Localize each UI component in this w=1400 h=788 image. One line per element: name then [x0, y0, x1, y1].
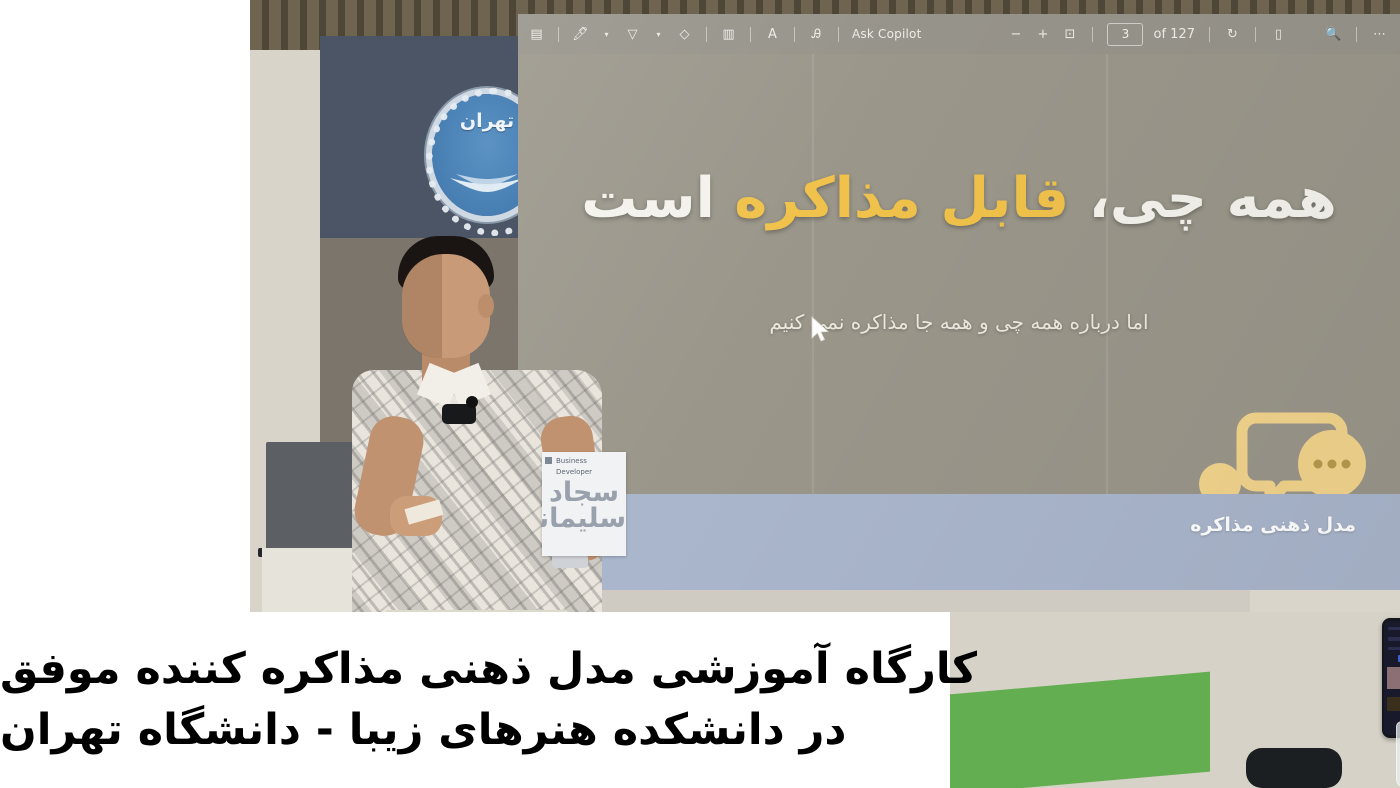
bottle-body-1	[1396, 721, 1400, 788]
phone-ui-row-1	[1388, 627, 1400, 630]
name-card-role-line2: Developer	[556, 467, 592, 478]
projection-screen: ▤ 🖊 ▾ ▽ ▾ ◇ ▥ A Ꭿ Ask Copilot	[518, 14, 1400, 590]
caption-line-1: کارگاه آموزشی مدل ذهنی مذاکره کننده موفق	[0, 642, 977, 697]
microphone-capsule-icon	[466, 396, 478, 408]
speaker-ear	[478, 294, 494, 318]
screen-glare	[518, 14, 1400, 590]
speaker-name-card: Business Developer سجاد سلیمانی	[542, 452, 626, 556]
phone-ui-row-3	[1388, 637, 1400, 641]
water-bottle-front	[1396, 700, 1400, 788]
dark-object-on-table	[1246, 748, 1342, 788]
university-banner: تهران	[320, 36, 518, 241]
name-card-role: Business Developer	[556, 456, 592, 477]
phone-ui-row-4	[1388, 647, 1400, 650]
name-card-role-line1: Business	[556, 456, 592, 467]
caption-line-2: در دانشکده هنرهای زیبا - دانشگاه تهران	[0, 703, 846, 758]
name-card-logo-icon	[545, 457, 552, 464]
screenshot-root: تهران UNIV CON	[0, 0, 1400, 788]
speaker-person	[346, 236, 610, 618]
caption-block: کارگاه آموزشی مدل ذهنی مذاکره کننده موفق…	[0, 612, 950, 788]
speaker-wristwatch	[552, 554, 588, 568]
left-white-margin	[0, 0, 250, 612]
phone-thumbnail-1	[1387, 667, 1400, 689]
name-card-name: سجاد سلیمانی	[542, 480, 626, 531]
